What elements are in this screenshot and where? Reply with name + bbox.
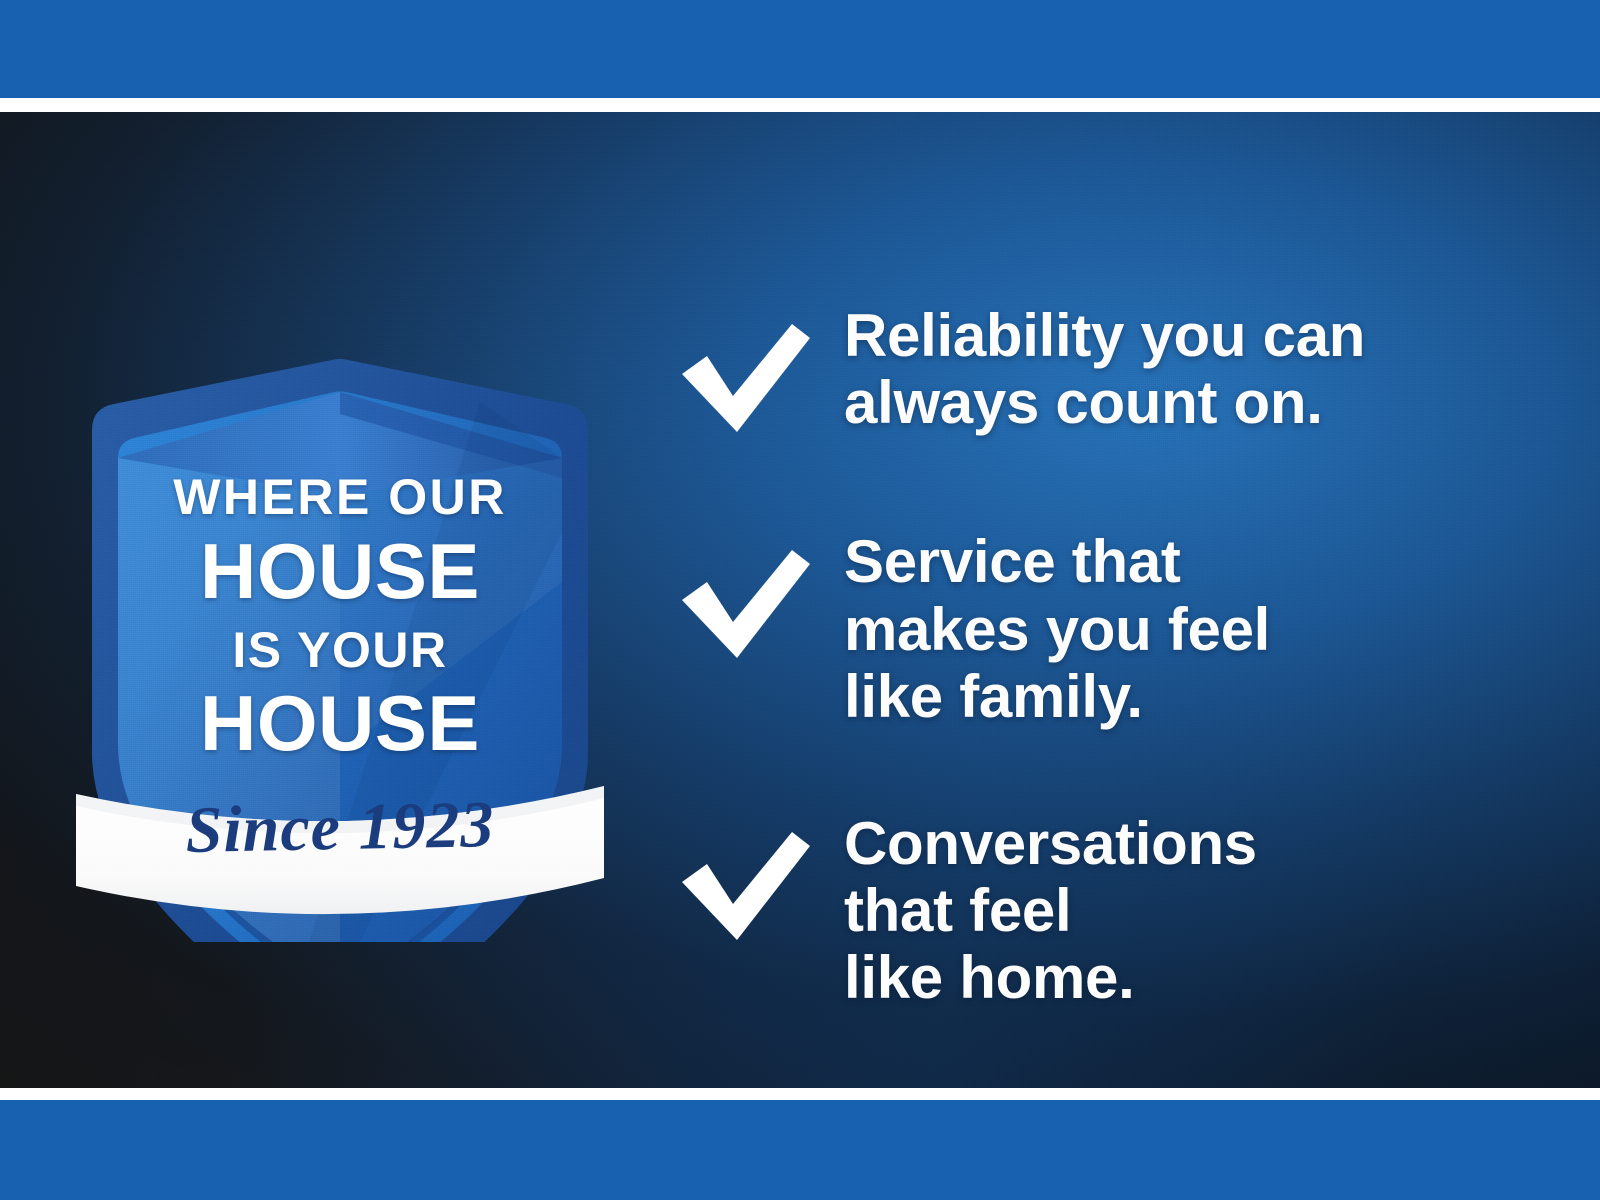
list-item: Conversations that feel like home. [680, 810, 1510, 1012]
list-item: Reliability you can always count on. [680, 302, 1510, 436]
list-item-line-1: Service that [844, 528, 1510, 595]
list-item-line-3: like family. [844, 663, 1510, 730]
list-item-line-3: like home. [844, 944, 1510, 1011]
list-item-text: Service that makes you feel like family. [844, 528, 1510, 730]
main-canvas: WHERE OUR HOUSE IS YOUR HOUSE Since 1923… [0, 112, 1600, 1088]
list-item-line-1: Conversations [844, 810, 1510, 877]
company-emblem: WHERE OUR HOUSE IS YOUR HOUSE Since 1923 [70, 282, 610, 942]
list-item-line-2: makes you feel [844, 596, 1510, 663]
benefits-list: Reliability you can always count on. Ser… [680, 302, 1510, 1012]
list-item-line-2: that feel [844, 877, 1510, 944]
list-item: Service that makes you feel like family. [680, 528, 1510, 730]
bottom-brand-bar [0, 1100, 1600, 1200]
list-item-line-2: always count on. [844, 369, 1510, 436]
list-item-text: Conversations that feel like home. [844, 810, 1510, 1012]
top-brand-bar [0, 0, 1600, 98]
checkmark-icon [680, 322, 812, 434]
list-item-line-1: Reliability you can [844, 302, 1510, 369]
checkmark-icon [680, 830, 812, 942]
checkmark-icon [680, 548, 812, 660]
list-item-text: Reliability you can always count on. [844, 302, 1510, 436]
promo-poster: WHERE OUR HOUSE IS YOUR HOUSE Since 1923… [0, 0, 1600, 1200]
